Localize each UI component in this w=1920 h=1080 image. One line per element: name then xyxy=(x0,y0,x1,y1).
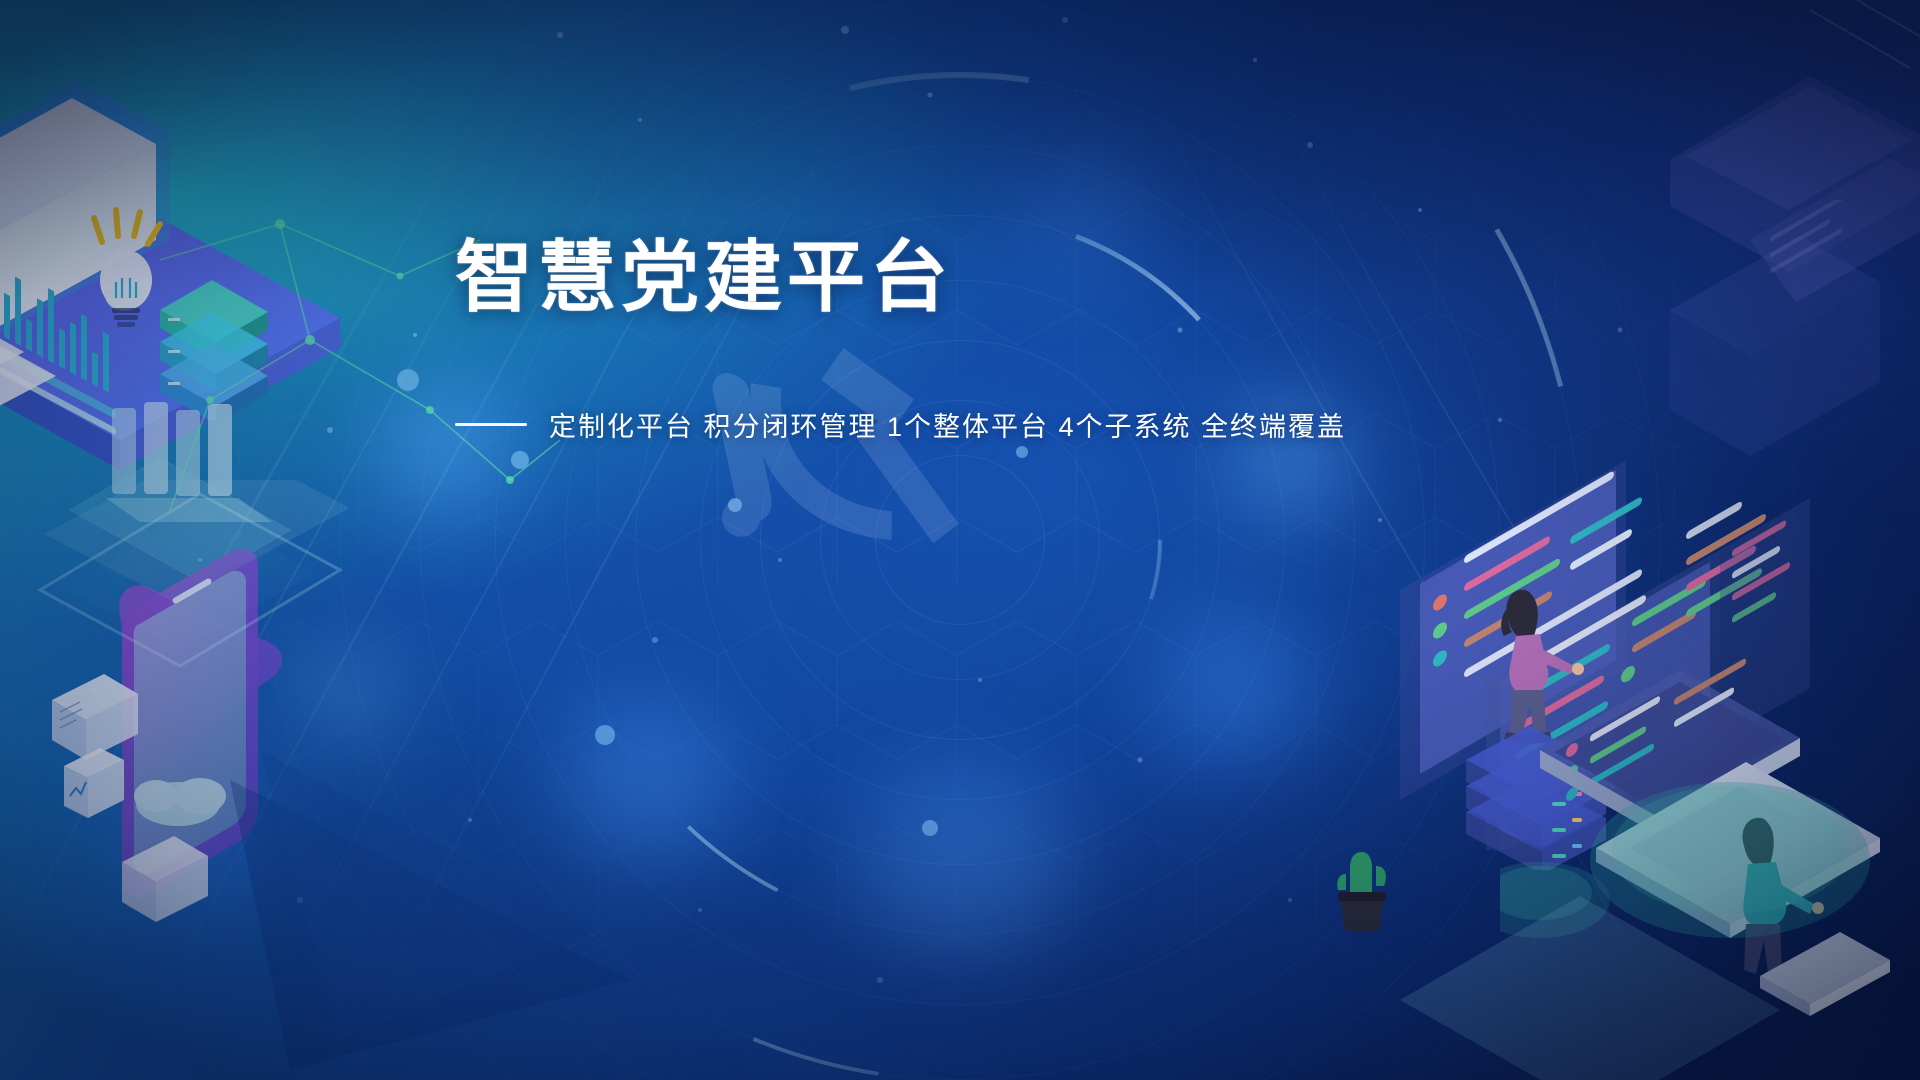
subtitle-dash-rule xyxy=(455,423,527,426)
hero-banner: 智慧党建平台 定制化平台 积分闭环管理 1个整体平台 4个子系统 全终端覆盖 xyxy=(0,0,1920,1080)
page-subtitle: 定制化平台 积分闭环管理 1个整体平台 4个子系统 全终端覆盖 xyxy=(455,405,1346,444)
vignette-overlay xyxy=(0,0,1920,1080)
page-title: 智慧党建平台 xyxy=(455,238,1455,316)
page-subtitle-text: 定制化平台 积分闭环管理 1个整体平台 4个子系统 全终端覆盖 xyxy=(549,405,1346,444)
page-title-text: 智慧党建平台 xyxy=(455,238,1455,316)
